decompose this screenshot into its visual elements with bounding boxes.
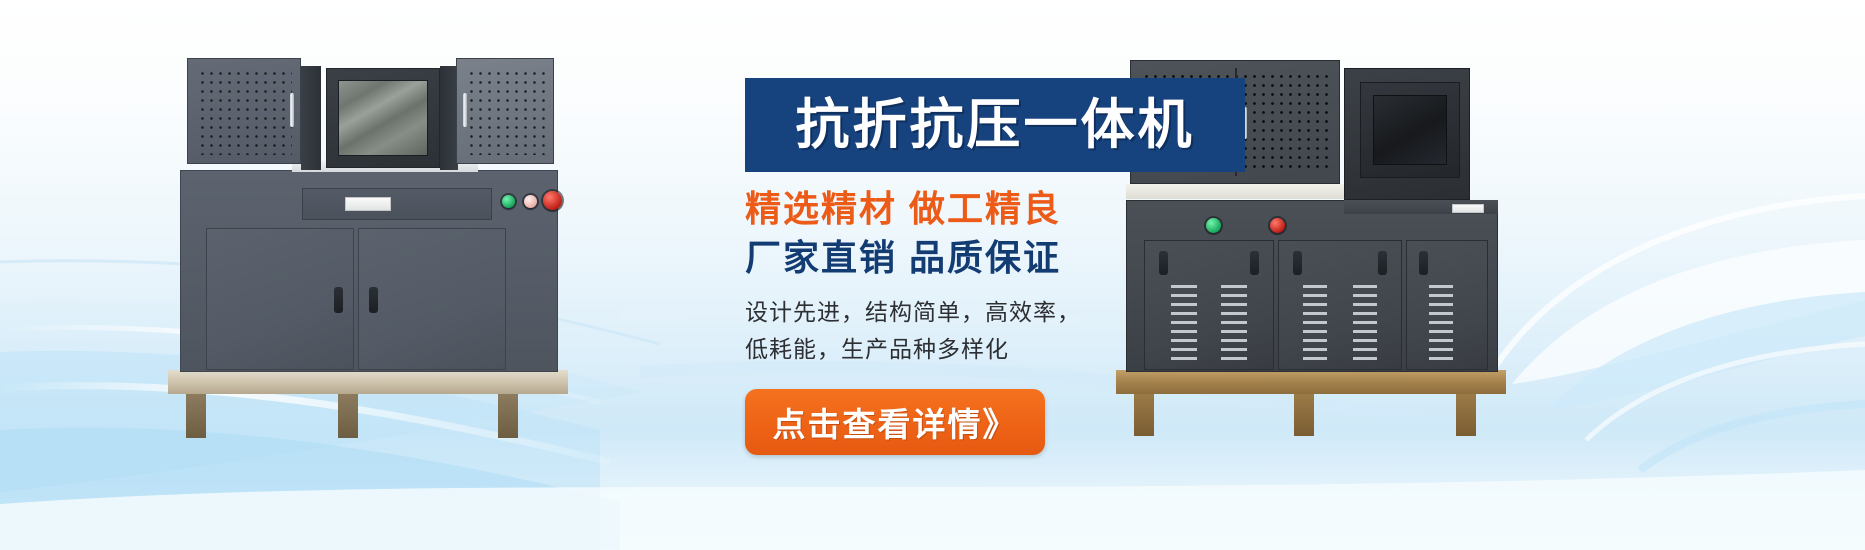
lower-door-left[interactable]: [206, 228, 354, 370]
door-handle[interactable]: [1293, 251, 1302, 275]
lower-door-2[interactable]: [1278, 240, 1402, 370]
cabinet-handle: [463, 93, 467, 127]
pallet-leg: [1294, 394, 1314, 436]
view-details-button-label: 点击查看详情》: [773, 398, 1018, 446]
ventilation-louvers: [1429, 285, 1453, 361]
headline-blue: 厂家直销 品质保证: [745, 235, 1265, 280]
lower-door-3[interactable]: [1406, 240, 1488, 370]
emergency-stop-button[interactable]: [543, 191, 562, 210]
cabinet-side-face: [301, 66, 321, 170]
page-title: 抗折抗压一体机: [796, 98, 1195, 152]
display-window-glass: [338, 80, 428, 156]
description-line-2: 低耗能，生产品种多样化: [745, 331, 1265, 368]
description-line-1: 设计先进，结构简单，高效率，: [745, 294, 1265, 331]
headline-orange: 精选精材 做工精良: [745, 186, 1265, 231]
display-window-frame: [326, 68, 440, 168]
door-handle[interactable]: [1378, 251, 1387, 275]
monitor-frame: [1360, 82, 1460, 178]
machine-photo-left: [168, 52, 568, 432]
ventilation-louvers: [1353, 285, 1377, 361]
door-handle[interactable]: [369, 287, 378, 313]
indicator-light-green[interactable]: [502, 195, 515, 208]
door-handle[interactable]: [334, 287, 343, 313]
pallet-leg: [1456, 394, 1476, 436]
monitor-base-label: [1452, 204, 1484, 213]
view-details-button[interactable]: 点击查看详情》: [745, 389, 1045, 455]
cabinet-handle: [290, 93, 294, 127]
monitor-screen: [1373, 95, 1447, 165]
indicator-light-red[interactable]: [1270, 218, 1285, 233]
lower-door-right[interactable]: [358, 228, 506, 370]
pallet-leg: [498, 394, 518, 438]
pallet-left: [168, 370, 568, 394]
door-handle[interactable]: [1419, 251, 1428, 275]
drawer-label: [345, 197, 391, 211]
pallet-leg: [186, 394, 206, 438]
indicator-light-white[interactable]: [524, 195, 537, 208]
title-banner: 抗折抗压一体机: [745, 78, 1245, 172]
ventilation-louvers: [1303, 285, 1327, 361]
pallet-leg: [338, 394, 358, 438]
perforation-pattern: [196, 67, 292, 155]
perforation-pattern: [465, 67, 545, 155]
banner-copy: 抗折抗压一体机 精选精材 做工精良 厂家直销 品质保证 设计先进，结构简单，高效…: [745, 78, 1265, 455]
control-drawer: [302, 188, 492, 220]
perforated-cabinet-left: [187, 58, 301, 164]
perforated-cabinet-right: [456, 58, 554, 164]
product-banner: 抗折抗压一体机 精选精材 做工精良 厂家直销 品质保证 设计先进，结构简单，高效…: [0, 0, 1865, 550]
